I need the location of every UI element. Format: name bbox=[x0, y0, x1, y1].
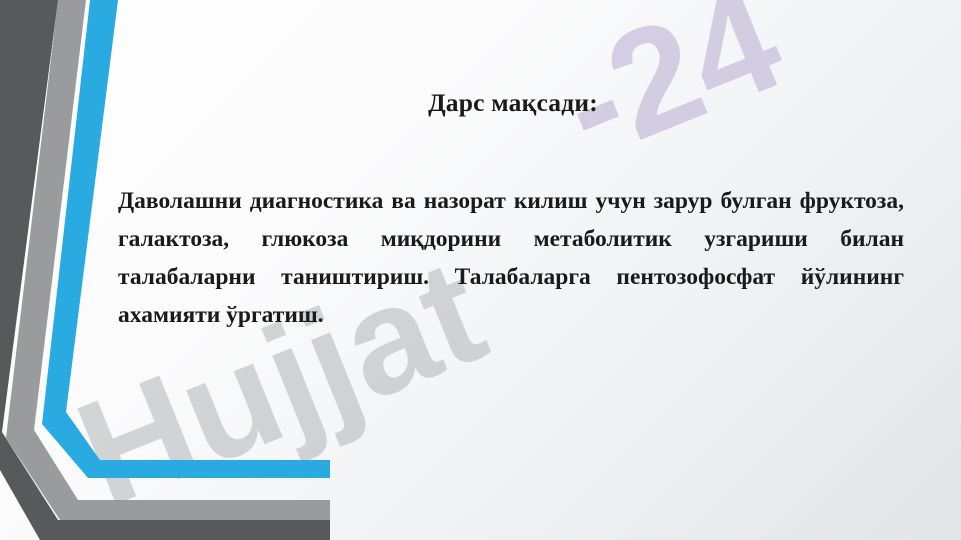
slide: -24 Hujjat Дарс мақсади: Даволашни диагн… bbox=[0, 0, 961, 540]
band-gray-dark bbox=[0, 0, 58, 440]
slide-content: Дарс мақсади: Даволашни диагностика ва н… bbox=[118, 72, 908, 334]
page-title: Дарс мақсади: bbox=[118, 72, 908, 118]
body-paragraph: Даволашни диагностика ва назорат килиш у… bbox=[118, 118, 904, 334]
